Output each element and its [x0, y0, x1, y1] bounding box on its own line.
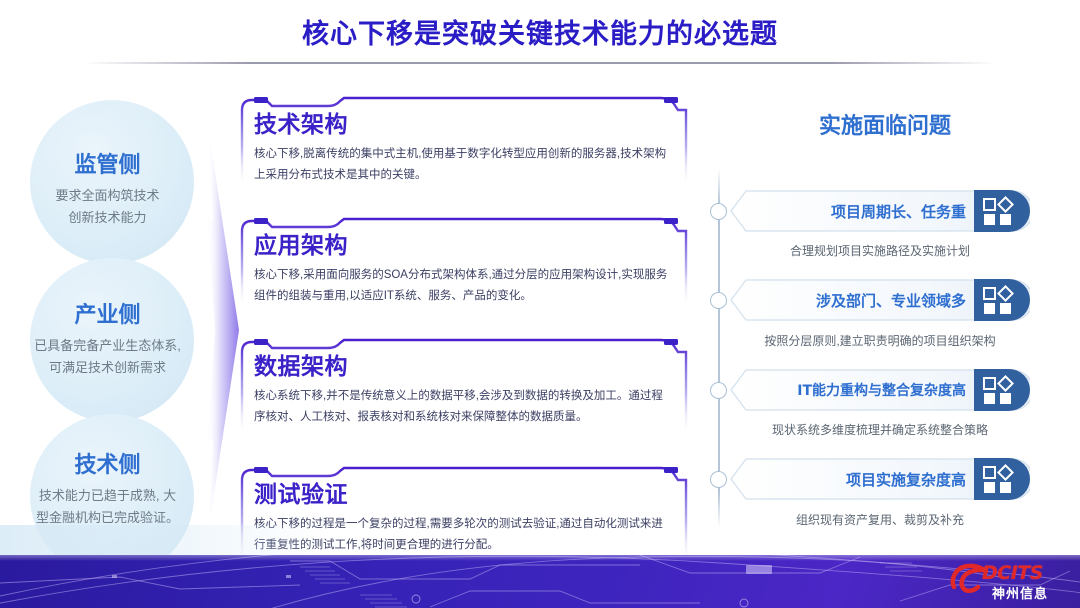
squares-diamond-icon	[974, 190, 1030, 232]
left-group-line: 技术能力已趋于成熟, 大	[0, 485, 215, 507]
squares-diamond-icon	[974, 458, 1030, 500]
card-body: 核心系统下移,并不是传统意义上的数据平移,会涉及到数据的转换及加工。通过程序核对…	[254, 386, 674, 428]
implementation-issues-panel: 实施面临问题 项目周期长、任务重	[700, 96, 1070, 556]
left-group-line: 已具备完备产业生态体系,	[0, 335, 215, 357]
timeline-node	[710, 471, 727, 488]
card-body: 核心下移,脱离传统的集中式主机,使用基于数字化转型应用创新的服务器,技术架构上采…	[254, 144, 674, 186]
timeline-node	[710, 292, 727, 309]
title-divider	[84, 62, 996, 64]
issue-item-3[interactable]: IT能力重构与整合复杂度高	[730, 369, 1030, 411]
card-heading: 技术架构	[254, 105, 674, 139]
page-title: 核心下移是突破关键技术能力的必选题	[0, 12, 1080, 51]
issue-label: 项目周期长、任务重	[760, 190, 974, 232]
issue-label: 涉及部门、专业领域多	[760, 279, 974, 321]
logo-wordmark: DCITS	[982, 562, 1043, 584]
card-technical-architecture[interactable]: 技术架构 核心下移,脱离传统的集中式主机,使用基于数字化转型应用创新的服务器,技…	[240, 96, 688, 208]
timeline-node	[710, 382, 727, 399]
logo-chinese-name: 神州信息	[992, 583, 1048, 602]
squares-diamond-icon	[974, 279, 1030, 321]
issue-label: 项目实施复杂度高	[760, 458, 974, 500]
issue-description: 按照分层原则,建立职责明确的项目组织架构	[730, 332, 1030, 349]
issue-description: 现状系统多维度梳理并确定系统整合策略	[730, 421, 1030, 438]
left-group-technology: 技术侧 技术能力已趋于成熟, 大 型金融机构已完成验证。	[0, 447, 215, 529]
company-logo: DCITS 神州信息	[948, 561, 1066, 603]
left-group-line: 要求全面构筑技术	[0, 185, 215, 207]
card-heading: 应用架构	[254, 226, 674, 260]
arrow-ribbon-icon	[193, 120, 241, 540]
issue-label: IT能力重构与整合复杂度高	[760, 369, 974, 411]
card-application-architecture[interactable]: 应用架构 核心下移,采用面向服务的SOA分布式架构体系,通过分层的应用架构设计,…	[240, 217, 688, 329]
left-group-industry: 产业侧 已具备完备产业生态体系, 可满足技术创新需求	[0, 297, 215, 379]
issue-description: 组织现有资产复用、裁剪及补充	[730, 511, 1030, 528]
slide-root: 核心下移是突破关键技术能力的必选题 监管侧 要求全面构筑技术 创新技术能力 产业…	[0, 0, 1080, 608]
banner-top-fade	[0, 555, 1080, 561]
issue-item-4[interactable]: 项目实施复杂度高	[730, 458, 1030, 500]
card-heading: 数据架构	[254, 347, 674, 381]
left-group-heading: 技术侧	[0, 447, 215, 479]
circuit-pattern	[0, 555, 1080, 608]
left-group-heading: 产业侧	[0, 297, 215, 329]
card-heading: 测试验证	[254, 475, 674, 509]
issue-item-1[interactable]: 项目周期长、任务重	[730, 190, 1030, 232]
card-data-architecture[interactable]: 数据架构 核心系统下移,并不是传统意义上的数据平移,会涉及到数据的转换及加工。通…	[240, 338, 688, 457]
timeline-node	[710, 203, 727, 220]
right-panel-title: 实施面临问题	[700, 108, 1070, 140]
card-body: 核心下移,采用面向服务的SOA分布式架构体系,通过分层的应用架构设计,实现服务组…	[254, 265, 674, 307]
left-group-line: 可满足技术创新需求	[0, 357, 215, 379]
issue-item-2[interactable]: 涉及部门、专业领域多	[730, 279, 1030, 321]
decorative-wash	[0, 525, 330, 555]
left-group-line: 创新技术能力	[0, 207, 215, 229]
left-drivers-column: 监管侧 要求全面构筑技术 创新技术能力 产业侧 已具备完备产业生态体系, 可满足…	[0, 92, 215, 552]
architecture-cards: 技术架构 核心下移,脱离传统的集中式主机,使用基于数字化转型应用创新的服务器,技…	[240, 96, 688, 594]
issue-description: 合理规划项目实施路径及实施计划	[730, 242, 1030, 259]
slide-header: 核心下移是突破关键技术能力的必选题	[0, 0, 1080, 72]
left-group-regulatory: 监管侧 要求全面构筑技术 创新技术能力	[0, 147, 215, 229]
squares-diamond-icon	[974, 369, 1030, 411]
footer-banner: DCITS 神州信息	[0, 555, 1080, 608]
left-group-heading: 监管侧	[0, 147, 215, 179]
